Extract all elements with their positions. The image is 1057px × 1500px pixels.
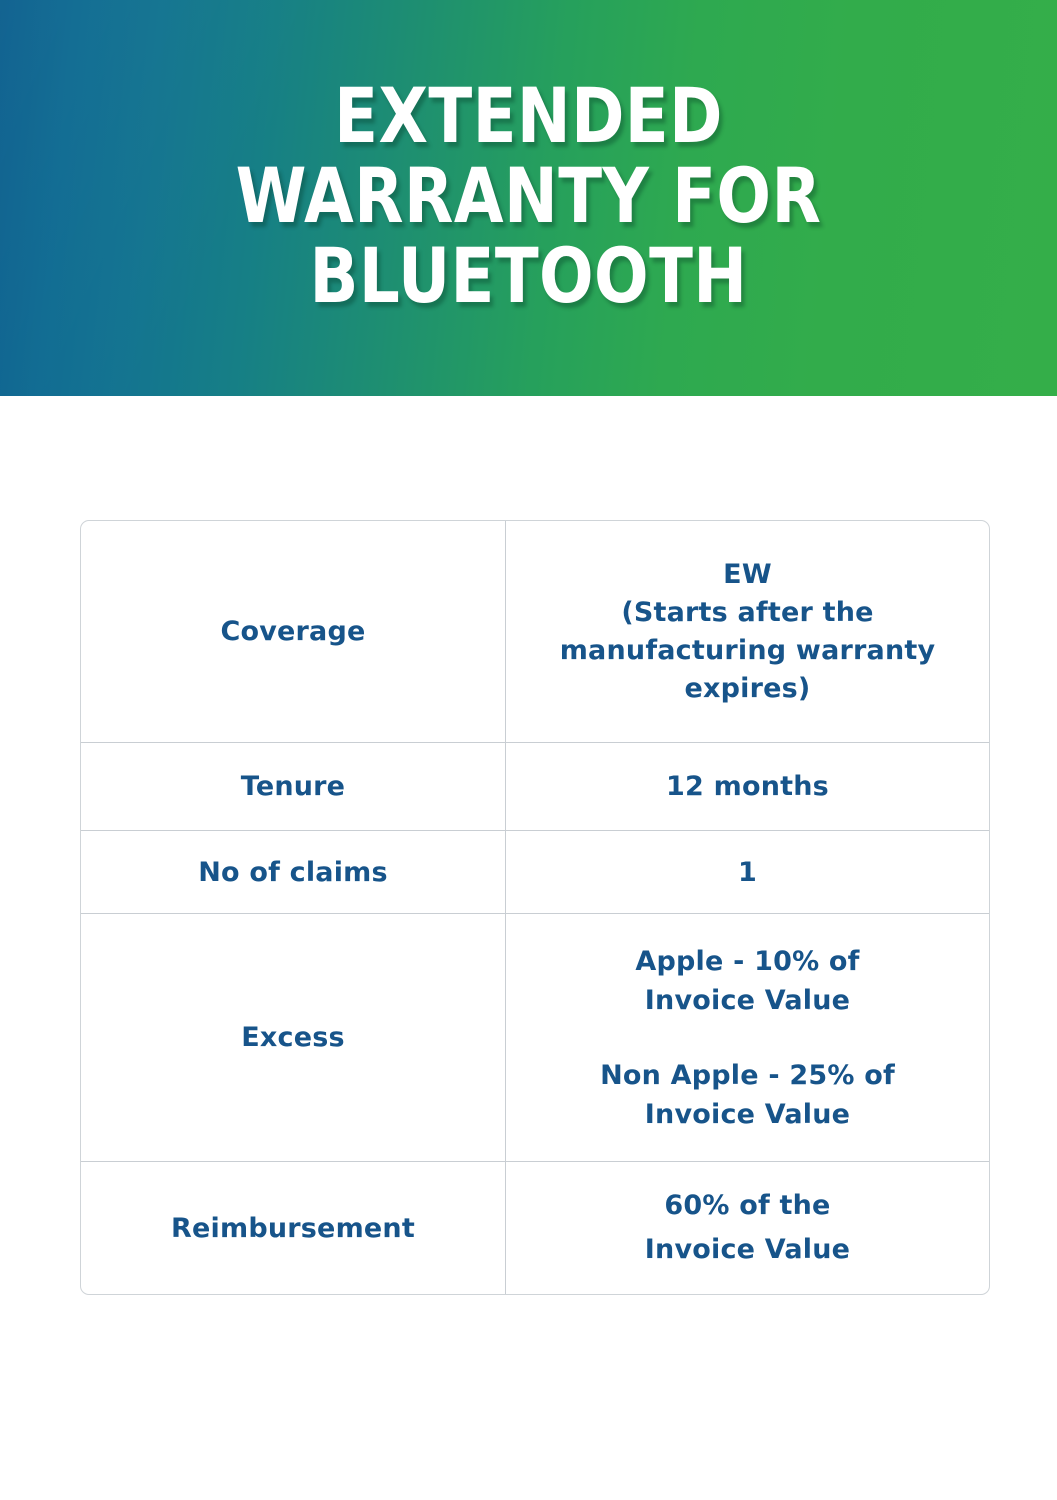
coverage-value-line-1: EW — [560, 556, 936, 594]
warranty-spec-table: Coverage EW (Starts after the manufactur… — [80, 520, 990, 1295]
excess-apple-line-1: Apple - 10% of — [600, 942, 895, 981]
excess-non-apple-line-1: Non Apple - 25% of — [600, 1056, 895, 1095]
table-row-excess: Excess Apple - 10% of Invoice Value Non … — [81, 914, 989, 1162]
row-label-excess: Excess — [81, 914, 506, 1161]
row-value-reimbursement: 60% of the Invoice Value — [506, 1162, 989, 1294]
header-banner: EXTENDED WARRANTY FOR BLUETOOTH — [0, 0, 1057, 396]
excess-apple-line-2: Invoice Value — [600, 981, 895, 1020]
coverage-value-line-3: manufacturing warranty — [560, 632, 936, 670]
row-label-no-of-claims: No of claims — [81, 831, 506, 913]
title-line-2: WARRANTY FOR — [82, 156, 975, 236]
row-value-tenure: 12 months — [506, 743, 989, 830]
row-value-no-of-claims: 1 — [506, 831, 989, 913]
reimbursement-value-line-1: 60% of the — [645, 1184, 850, 1228]
coverage-value-line-2: (Starts after the — [560, 594, 936, 632]
row-label-reimbursement: Reimbursement — [81, 1162, 506, 1294]
title-line-3: BLUETOOTH — [82, 236, 975, 316]
table-row-coverage: Coverage EW (Starts after the manufactur… — [81, 521, 989, 743]
table-row-tenure: Tenure 12 months — [81, 743, 989, 831]
title-line-1: EXTENDED — [82, 76, 975, 156]
page-title: EXTENDED WARRANTY FOR BLUETOOTH — [82, 76, 975, 316]
row-label-coverage: Coverage — [81, 521, 506, 742]
excess-non-apple-line-2: Invoice Value — [600, 1095, 895, 1134]
table-row-reimbursement: Reimbursement 60% of the Invoice Value — [81, 1162, 989, 1294]
row-value-excess: Apple - 10% of Invoice Value Non Apple -… — [506, 914, 989, 1161]
reimbursement-value-line-2: Invoice Value — [645, 1228, 850, 1272]
excess-value-spacer — [600, 1020, 895, 1056]
table-row-no-of-claims: No of claims 1 — [81, 831, 989, 914]
row-label-tenure: Tenure — [81, 743, 506, 830]
row-value-coverage: EW (Starts after the manufacturing warra… — [506, 521, 989, 742]
coverage-value-line-4: expires) — [560, 670, 936, 708]
